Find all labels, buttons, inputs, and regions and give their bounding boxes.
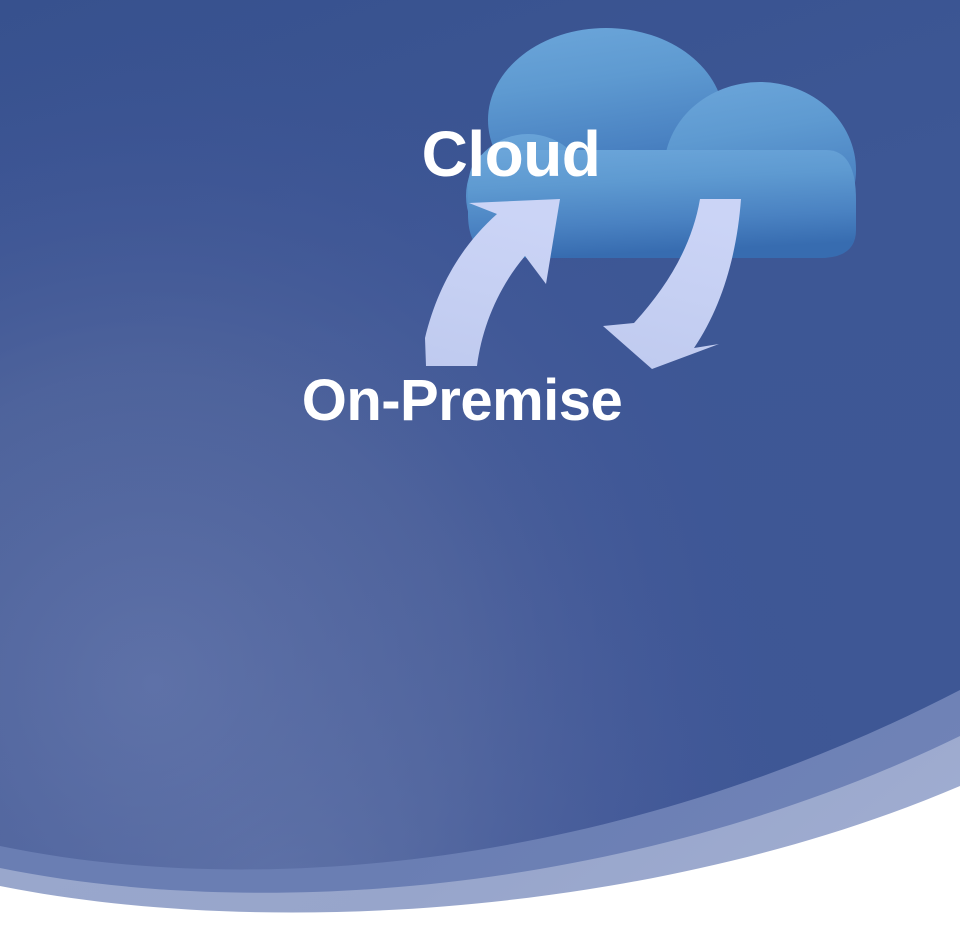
- onpremise-label: On-Premise: [0, 372, 942, 430]
- slide-canvas: Cloud On-Premise: [0, 0, 960, 950]
- cloud-label: Cloud: [31, 122, 960, 186]
